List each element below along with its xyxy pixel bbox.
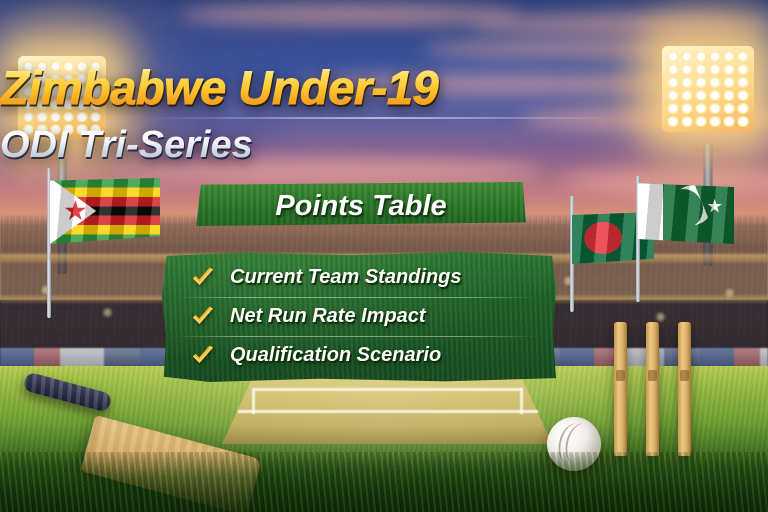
promo-graphic: Zimbabwe Under-19 ODI Tri-Series Points … [0, 0, 768, 512]
zimbabwe-flag [50, 178, 160, 244]
list-item-label: Current Team Standings [230, 266, 462, 289]
list-item-label: Net Run Rate Impact [230, 305, 426, 328]
list-item: Net Run Rate Impact [162, 297, 556, 336]
cricket-stumps [614, 322, 706, 462]
check-icon [190, 343, 216, 369]
page-subtitle: ODI Tri-Series [0, 124, 768, 167]
check-icon [190, 265, 216, 291]
pakistan-flag [638, 182, 734, 244]
points-table-banner-label: Points Table [196, 186, 526, 226]
list-item: Current Team Standings [162, 258, 556, 297]
foreground-grass [0, 452, 768, 512]
check-icon [190, 304, 216, 330]
page-title: Zimbabwe Under-19 [0, 60, 768, 115]
feature-list: Current Team Standings Net Run Rate Impa… [162, 252, 556, 382]
list-item: Qualification Scenario [162, 336, 556, 375]
list-item-label: Qualification Scenario [230, 344, 441, 367]
title-divider [150, 117, 620, 119]
